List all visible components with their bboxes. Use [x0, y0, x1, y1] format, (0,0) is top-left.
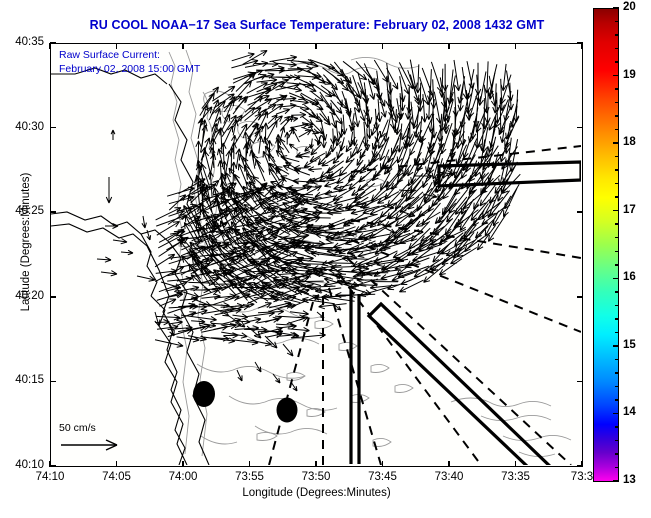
- colorbar-minor-tick: [615, 318, 619, 320]
- current-vector: [155, 312, 160, 326]
- current-vector: [156, 315, 180, 320]
- x-tick: [581, 43, 583, 49]
- colorbar-minor-tick: [615, 115, 619, 117]
- current-vector: [263, 151, 269, 165]
- current-vector: [142, 216, 147, 228]
- colorbar-minor-tick: [615, 102, 619, 104]
- x-tick: [249, 43, 251, 49]
- current-vector: [167, 293, 183, 298]
- current-vector: [268, 95, 287, 107]
- colorbar-minor-tick: [615, 223, 619, 225]
- x-tick-label: 74:05: [87, 471, 147, 483]
- current-vector: [334, 197, 357, 204]
- current-vector: [463, 129, 473, 158]
- current-vector: [267, 121, 277, 139]
- current-vector: [167, 187, 194, 196]
- colorbar-minor-tick: [615, 169, 619, 171]
- current-vector: [243, 143, 248, 168]
- current-vector: [289, 144, 298, 151]
- colorbar-minor-tick: [615, 453, 619, 455]
- colorbar-minor-tick: [615, 386, 619, 388]
- x-tick-label: 73:40: [419, 471, 479, 483]
- current-vector: [257, 317, 279, 323]
- colorbar-minor-tick: [615, 372, 619, 374]
- colorbar-minor-tick: [615, 291, 619, 293]
- colorbar-minor-tick: [615, 196, 619, 198]
- current-vector: [370, 285, 399, 290]
- x-axis-title: Longitude (Degrees:Minutes): [50, 487, 583, 499]
- colorbar-tick: [613, 7, 619, 9]
- colorbar-minor-tick: [615, 251, 619, 253]
- y-tick: [577, 127, 583, 129]
- current-vector: [349, 132, 354, 147]
- x-tick: [182, 461, 184, 467]
- current-vector: [97, 257, 111, 262]
- current-vector: [390, 109, 396, 130]
- y-tick: [577, 465, 583, 467]
- current-vector: [285, 132, 290, 145]
- current-vector: [198, 118, 203, 139]
- current-vector: [501, 64, 506, 91]
- x-tick: [249, 461, 251, 467]
- current-vector: [237, 370, 242, 381]
- current-vector: [310, 139, 314, 149]
- y-tick-label: 40:35: [0, 36, 44, 48]
- colorbar-tick: [613, 413, 619, 415]
- current-vector: [258, 136, 263, 154]
- current-vector: [155, 254, 175, 266]
- colorbar-tick-label: 20: [623, 1, 636, 13]
- current-vector: [106, 177, 111, 203]
- current-vector: [467, 69, 474, 99]
- colorbar-tick-label: 17: [623, 204, 636, 216]
- current-vector: [233, 340, 258, 345]
- current-vector: [339, 176, 356, 192]
- colorbar-tick-label: 13: [623, 474, 636, 486]
- current-vector: [463, 190, 486, 209]
- colorbar-minor-tick: [615, 21, 619, 23]
- current-vector: [385, 228, 395, 233]
- current-vector: [178, 286, 199, 292]
- current-vector: [280, 127, 285, 139]
- colorbar-tick: [613, 75, 619, 77]
- y-tick-label: 40:30: [0, 121, 44, 133]
- colorbar-tick-label: 19: [623, 69, 636, 81]
- current-vector: [247, 318, 261, 323]
- x-tick-label: 73:50: [286, 471, 346, 483]
- x-tick: [448, 43, 450, 49]
- current-vector: [177, 312, 196, 320]
- current-vector: [137, 276, 155, 281]
- current-vector: [276, 109, 290, 114]
- x-tick: [315, 461, 317, 467]
- current-vector: [113, 239, 127, 244]
- current-vector: [269, 301, 291, 308]
- y-tick-label: 40:15: [0, 374, 44, 386]
- right-arrow-icon: [59, 434, 129, 454]
- figure-canvas: RU COOL NOAA−17 Sea Surface Temperature:…: [0, 0, 651, 518]
- current-vector: [345, 282, 377, 287]
- station-marker: [193, 381, 215, 407]
- current-vector: [276, 138, 280, 150]
- current-vector: [357, 137, 365, 154]
- colorbar-tick-label: 16: [623, 271, 636, 283]
- colorbar-minor-tick: [615, 332, 619, 334]
- y-tick: [50, 42, 56, 44]
- colorbar-tick: [613, 480, 619, 482]
- colorbar-minor-tick: [615, 48, 619, 50]
- colorbar-tick: [613, 345, 619, 347]
- y-tick: [50, 465, 56, 467]
- annotation-line-2: February 02, 2008 15:00 GMT: [59, 62, 200, 76]
- colorbar-tick: [613, 278, 619, 280]
- y-tick: [577, 381, 583, 383]
- current-vector: [231, 60, 258, 68]
- station-marker: [277, 398, 298, 423]
- current-annotation: Raw Surface Current: February 02, 2008 1…: [59, 48, 200, 76]
- current-vector: [401, 173, 423, 197]
- x-tick: [116, 461, 118, 467]
- y-axis-title: Latitude (Degrees:Minutes): [20, 132, 32, 352]
- colorbar-minor-tick: [615, 88, 619, 90]
- colorbar-minor-tick: [615, 237, 619, 239]
- current-vector: [111, 130, 115, 140]
- y-tick: [577, 296, 583, 298]
- colorbar-minor-tick: [615, 264, 619, 266]
- current-vector: [247, 340, 271, 346]
- x-tick-label: 73:45: [353, 471, 413, 483]
- current-vector: [477, 225, 495, 250]
- colorbar-minor-tick: [615, 440, 619, 442]
- map-graphics: [51, 44, 581, 465]
- current-vector: [384, 116, 391, 142]
- x-tick: [315, 43, 317, 49]
- station-markers: [193, 381, 298, 423]
- scale-legend-label: 50 cm/s: [59, 422, 129, 434]
- current-vector: [294, 169, 310, 175]
- current-vector: [288, 327, 310, 332]
- colorbar-minor-tick: [615, 61, 619, 63]
- current-vector: [454, 60, 461, 91]
- y-tick: [50, 296, 56, 298]
- current-vector: [318, 150, 332, 165]
- x-tick-label: 74:10: [20, 471, 80, 483]
- colorbar-minor-tick: [615, 426, 619, 428]
- current-vector: [434, 92, 441, 124]
- x-tick-label: 73:35: [486, 471, 546, 483]
- x-tick: [382, 43, 384, 49]
- x-tick: [515, 43, 517, 49]
- colorbar-minor-tick: [615, 183, 619, 185]
- colorbar-tick-label: 15: [623, 339, 636, 351]
- current-vector: [192, 325, 206, 330]
- current-vector: [360, 144, 369, 158]
- scale-legend: 50 cm/s: [59, 422, 129, 454]
- y-tick: [50, 211, 56, 213]
- current-vector: [283, 344, 293, 356]
- current-vector: [233, 120, 238, 136]
- colorbar-minor-tick: [615, 359, 619, 361]
- x-tick: [382, 461, 384, 467]
- current-vector: [327, 210, 356, 216]
- colorbar-minor-tick: [615, 156, 619, 158]
- x-tick: [448, 461, 450, 467]
- colorbar-tick: [613, 142, 619, 144]
- current-vector: [388, 279, 413, 289]
- current-vector: [265, 336, 277, 348]
- y-tick: [577, 211, 583, 213]
- colorbar-minor-tick: [615, 305, 619, 307]
- current-vector: [266, 333, 282, 338]
- y-tick: [50, 127, 56, 129]
- current-vector: [410, 60, 417, 89]
- page-title: RU COOL NOAA−17 Sea Surface Temperature:…: [50, 18, 584, 32]
- current-vector: [121, 250, 133, 255]
- x-tick-label: 74:00: [153, 471, 213, 483]
- current-vector: [292, 127, 300, 142]
- current-vector: [155, 267, 184, 282]
- current-vector: [105, 224, 118, 229]
- y-tick-label: 40:10: [0, 459, 44, 471]
- current-vector: [308, 167, 322, 172]
- current-vector: [101, 271, 117, 276]
- annotation-line-1: Raw Surface Current:: [59, 48, 200, 62]
- colorbar-tick: [613, 210, 619, 212]
- current-vector: [156, 215, 187, 227]
- colorbar-minor-tick: [615, 34, 619, 36]
- x-tick-label: 73:55: [220, 471, 280, 483]
- colorbar-minor-tick: [615, 467, 619, 469]
- colorbar-tick-label: 18: [623, 136, 636, 148]
- colorbar-tick-label: 14: [623, 406, 636, 418]
- map-plot-area[interactable]: Raw Surface Current: February 02, 2008 1…: [50, 43, 583, 467]
- current-vector: [324, 181, 341, 187]
- x-tick: [49, 43, 51, 49]
- y-tick: [577, 42, 583, 44]
- colorbar-minor-tick: [615, 129, 619, 131]
- current-vector: [299, 130, 312, 137]
- x-tick: [515, 461, 517, 467]
- y-tick: [50, 381, 56, 383]
- current-vector: [428, 69, 433, 102]
- colorbar[interactable]: [593, 8, 619, 482]
- current-vector: [351, 263, 378, 272]
- colorbar-minor-tick: [615, 399, 619, 401]
